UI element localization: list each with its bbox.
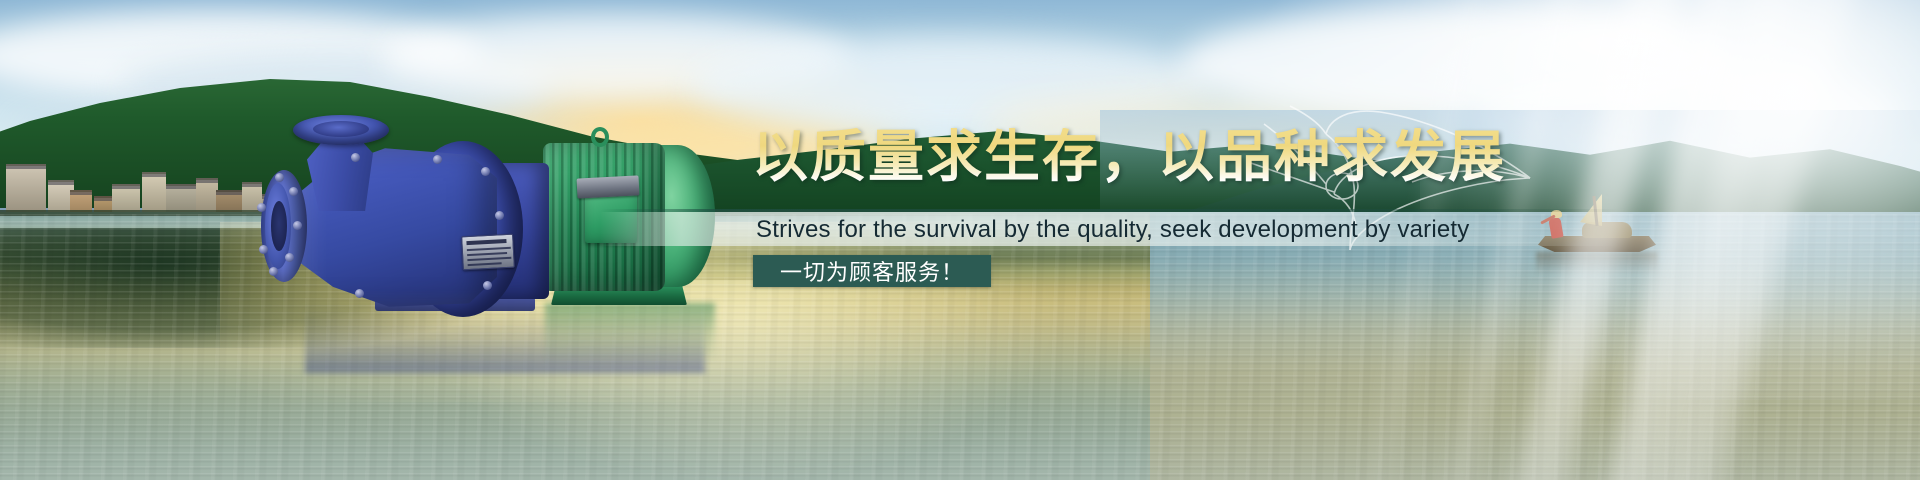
suction-flange-bore	[271, 201, 287, 251]
flange-bolt	[259, 245, 268, 254]
nameplate-line	[467, 247, 511, 251]
flange-bolt	[269, 267, 278, 276]
flange-bolt	[275, 173, 284, 182]
casing-bolt	[483, 281, 492, 290]
lifting-eyebolt-icon	[591, 127, 609, 147]
nameplate-line	[467, 252, 507, 256]
nameplate-line	[467, 257, 511, 261]
flange-bolt	[289, 187, 298, 196]
motor-nameplate	[577, 175, 640, 198]
tagline-box: 一切为顾客服务！	[753, 255, 991, 287]
discharge-flange-bore	[313, 121, 369, 137]
casing-bolt	[355, 289, 364, 298]
flange-bolt	[293, 221, 302, 230]
casing-bolt	[433, 155, 442, 164]
casing-bolt	[495, 211, 504, 220]
casing-bolt	[351, 153, 360, 162]
nameplate-title-line	[466, 239, 506, 245]
tagline-text: 一切为顾客服务！	[753, 255, 991, 287]
subtitle-english: Strives for the survival by the quality,…	[756, 215, 1469, 245]
flange-bolt	[285, 253, 294, 262]
motor-reflection	[545, 303, 715, 363]
headline-slogan: 以质量求生存，以品种求发展	[752, 128, 1506, 188]
centrifugal-pump-product	[255, 105, 695, 305]
pump-nameplate	[461, 234, 515, 271]
casing-bolt	[481, 167, 490, 176]
flange-bolt	[257, 203, 266, 212]
nameplate-line	[468, 262, 502, 266]
hero-banner: 以质量求生存，以品种求发展 以质量求生存，以品种求发展 Strives for …	[0, 0, 1920, 480]
boat-reflection	[1536, 252, 1658, 274]
